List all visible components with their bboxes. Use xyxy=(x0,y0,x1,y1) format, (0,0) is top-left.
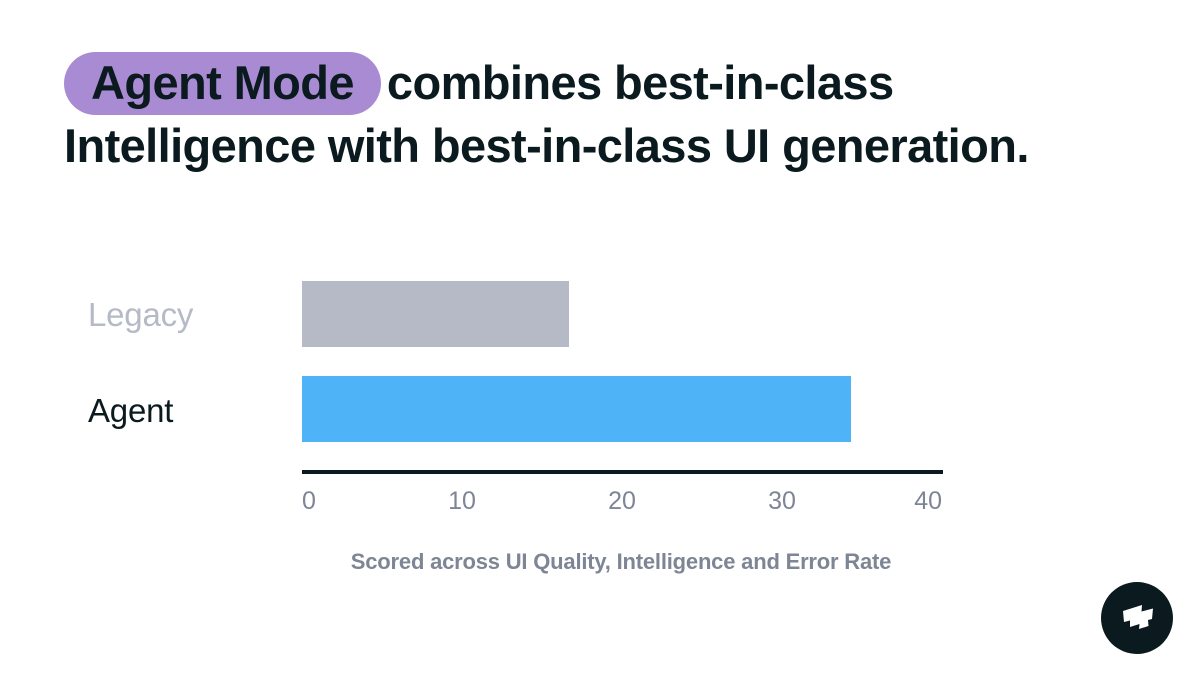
category-axis-labels: Legacy Agent xyxy=(0,252,290,472)
category-label-agent: Agent xyxy=(0,392,290,430)
x-tick-20: 20 xyxy=(608,487,636,516)
bar-legacy xyxy=(302,281,569,347)
bar-agent xyxy=(302,376,851,442)
chart-caption-text: Scored across UI Quality, Intelligence a… xyxy=(351,549,891,575)
x-axis-line xyxy=(302,470,943,474)
brand-logo-badge[interactable] xyxy=(1101,582,1173,654)
x-tick-10: 10 xyxy=(448,487,476,516)
x-tick-30: 30 xyxy=(768,487,796,516)
x-tick-0: 0 xyxy=(302,487,316,516)
page-title: Agent Modecombines best-in-class Intelli… xyxy=(64,52,1144,177)
flag-mark-icon xyxy=(1119,603,1157,635)
category-label-legacy: Legacy xyxy=(0,296,290,334)
x-axis-ticks: 010203040 xyxy=(302,487,943,527)
x-tick-40: 40 xyxy=(914,487,942,516)
agent-mode-highlight-pill: Agent Mode xyxy=(64,52,381,115)
chart-caption: Scored across UI Quality, Intelligence a… xyxy=(0,549,1200,575)
plot-area xyxy=(302,252,942,472)
slide-canvas: Agent Modecombines best-in-class Intelli… xyxy=(0,0,1200,675)
